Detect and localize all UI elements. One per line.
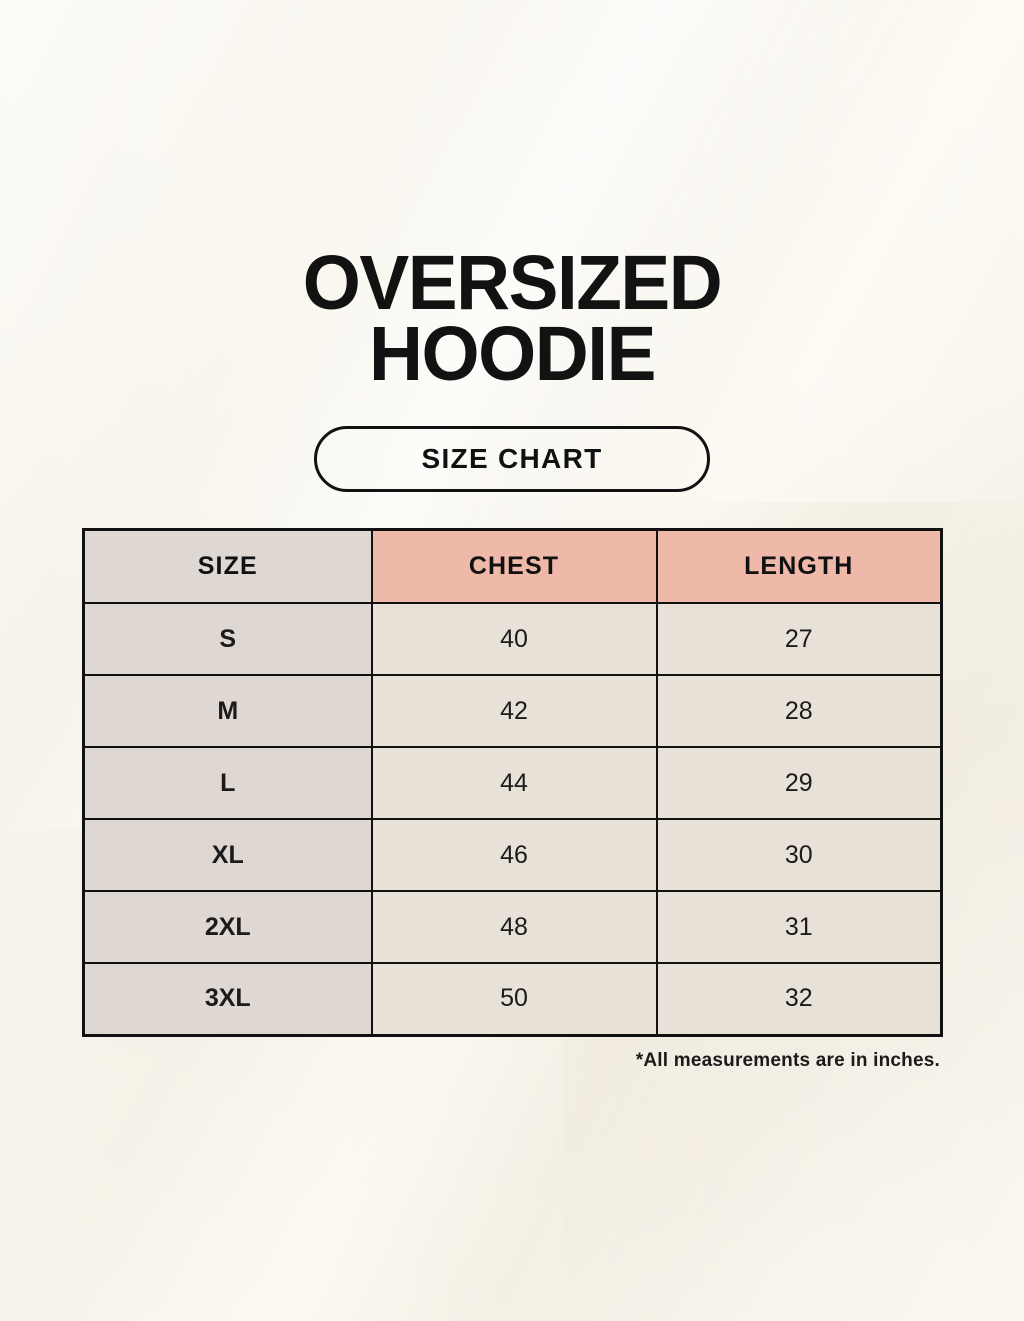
table-row: L 44 29 — [84, 747, 942, 819]
table-row: 3XL 50 32 — [84, 963, 942, 1035]
table-row: 2XL 48 31 — [84, 891, 942, 963]
column-header-size: SIZE — [84, 529, 372, 603]
cell-chest: 46 — [372, 819, 657, 891]
page-title: OVERSIZED HOODIE — [15, 0, 1008, 390]
cell-size: XL — [84, 819, 372, 891]
column-header-chest: CHEST — [372, 529, 657, 603]
cell-length: 28 — [657, 675, 942, 747]
size-chart-poster: OVERSIZED HOODIE SIZE CHART SIZE CHEST L… — [0, 0, 1024, 1321]
poster-content: OVERSIZED HOODIE SIZE CHART SIZE CHEST L… — [0, 0, 1024, 1072]
cell-size: 3XL — [84, 963, 372, 1035]
table-row: XL 46 30 — [84, 819, 942, 891]
cell-size: M — [84, 675, 372, 747]
cell-size: S — [84, 603, 372, 675]
page-title-line-2: HOODIE — [369, 311, 655, 397]
cell-chest: 48 — [372, 891, 657, 963]
cell-size: L — [84, 747, 372, 819]
cell-size: 2XL — [84, 891, 372, 963]
cell-chest: 42 — [372, 675, 657, 747]
column-header-length: LENGTH — [657, 529, 942, 603]
table-row: S 40 27 — [84, 603, 942, 675]
badge-container: SIZE CHART — [0, 426, 1024, 492]
table-row: M 42 28 — [84, 675, 942, 747]
cell-chest: 40 — [372, 603, 657, 675]
cell-length: 29 — [657, 747, 942, 819]
table-body: S 40 27 M 42 28 L 44 29 XL — [84, 603, 942, 1035]
cell-length: 27 — [657, 603, 942, 675]
size-chart-badge: SIZE CHART — [314, 426, 710, 492]
table-header: SIZE CHEST LENGTH — [84, 529, 942, 603]
table-container: SIZE CHEST LENGTH S 40 27 M 42 28 — [0, 528, 1024, 1072]
measurement-units-note: *All measurements are in inches. — [82, 1050, 940, 1072]
cell-length: 30 — [657, 819, 942, 891]
cell-chest: 44 — [372, 747, 657, 819]
table-header-row: SIZE CHEST LENGTH — [84, 529, 942, 603]
cell-length: 31 — [657, 891, 942, 963]
size-chart-table: SIZE CHEST LENGTH S 40 27 M 42 28 — [82, 528, 943, 1037]
cell-length: 32 — [657, 963, 942, 1035]
cell-chest: 50 — [372, 963, 657, 1035]
